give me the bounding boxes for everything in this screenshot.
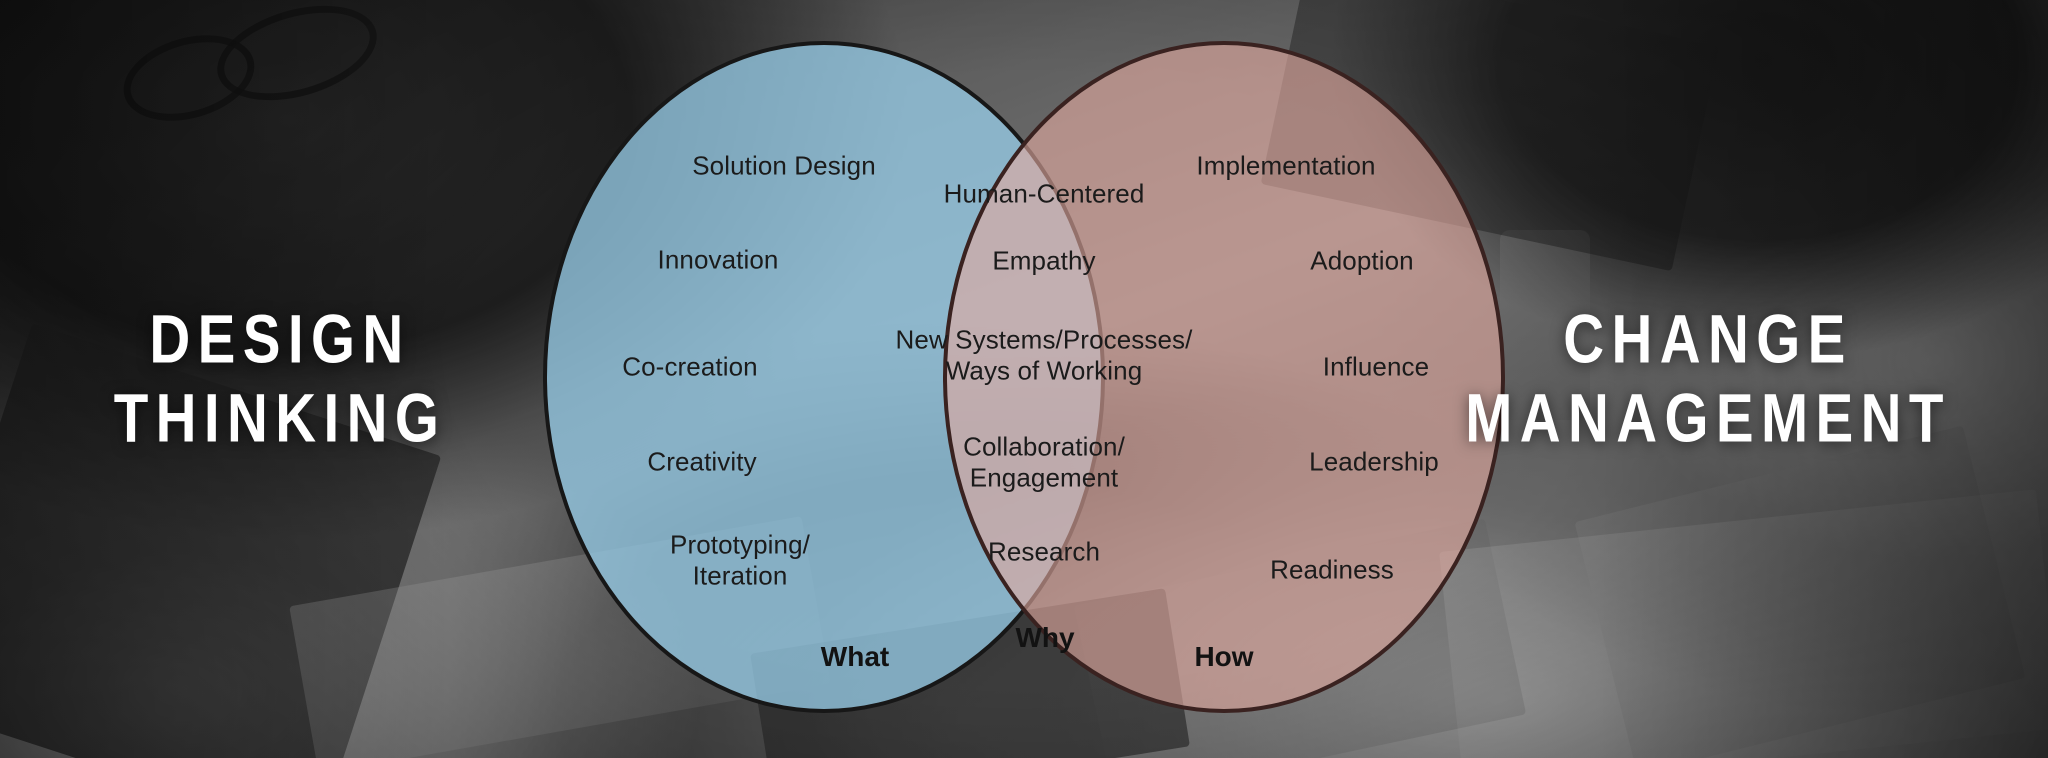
title-design-thinking: DESIGN THINKING <box>40 300 520 457</box>
title-change-management: CHANGE MANAGEMENT <box>1398 300 2018 457</box>
title-change-management-text: CHANGE MANAGEMENT <box>1454 300 1962 457</box>
venn-term-right-1: Adoption <box>1310 246 1413 277</box>
venn-term-overlap-3: Collaboration/ Engagement <box>963 431 1125 492</box>
venn-term-left-1: Innovation <box>658 245 779 276</box>
venn-term-left-2: Co-creation <box>622 352 758 383</box>
venn-term-overlap-1: Empathy <box>992 246 1095 277</box>
venn-zone-label-why: Why <box>1015 622 1074 654</box>
venn-term-left-3: Creativity <box>647 447 756 478</box>
venn-zone-label-how: How <box>1194 641 1253 673</box>
venn-zone-label-what: What <box>821 641 889 673</box>
banner-image: Solution Design Innovation Co-creation C… <box>0 0 2048 758</box>
venn-term-overlap-0: Human-Centered <box>944 179 1145 210</box>
venn-term-overlap-2: New Systems/Processes/ Ways of Working <box>896 324 1193 385</box>
title-design-thinking-text: DESIGN THINKING <box>83 300 477 457</box>
venn-term-left-4: Prototyping/ Iteration <box>670 529 810 590</box>
venn-term-right-0: Implementation <box>1196 151 1375 182</box>
venn-term-right-4: Readiness <box>1270 555 1394 586</box>
venn-term-overlap-4: Research <box>988 537 1100 568</box>
venn-term-left-0: Solution Design <box>692 151 876 182</box>
